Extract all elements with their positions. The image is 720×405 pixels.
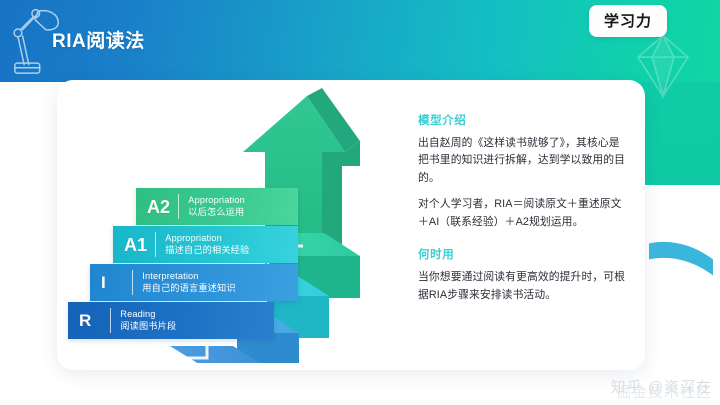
step-en-label: Appropriation — [188, 195, 245, 207]
label-divider — [132, 270, 133, 295]
step-label-a2[interactable]: A2 Appropriation 以后怎么运用 — [136, 188, 298, 225]
step-en-label: Reading — [120, 309, 176, 321]
watermark-line-1: 知乎 @资深在 — [611, 379, 712, 396]
section-paragraph-1: 出自赵周的《这样读书就够了》，其核心是把书里的知识进行拆解，达到学以致用的目的。 — [418, 135, 630, 187]
status-badge: 学习力 — [589, 5, 667, 37]
watermark: 知乎 @资深在 掘金技术社区 — [611, 376, 712, 397]
cyan-ribbon-decoration — [643, 237, 720, 285]
slide-canvas: RIA阅读法 学习力 — [0, 0, 720, 405]
step-en-label: Interpretation — [142, 271, 235, 283]
content-text-column: 模型介绍 出自赵周的《这样读书就够了》，其核心是把书里的知识进行拆解，达到学以致… — [418, 112, 630, 304]
watermark-line-2: 掘金技术社区 — [616, 381, 712, 402]
step-code: R — [79, 312, 104, 329]
step-code: A1 — [124, 236, 149, 254]
ria-staircase-diagram: A2 Appropriation 以后怎么运用 A1 Appropriation… — [60, 88, 410, 363]
section-paragraph-2: 对个人学习者，RIA＝阅读原文＋重述原文＋AI（联系经验）＋A2规划运用。 — [418, 196, 630, 231]
step-code: A2 — [147, 198, 172, 216]
label-divider — [178, 194, 179, 219]
step-cn-label: 以后怎么运用 — [188, 207, 245, 219]
label-divider — [155, 232, 156, 257]
step-cn-label: 用自己的语言重述知识 — [142, 283, 235, 295]
step-code: I — [101, 274, 126, 291]
section-paragraph-3: 当你想要通过阅读有更高效的提升时，可根据RIA步骤来安排读书活动。 — [418, 269, 630, 304]
step-en-label: Appropriation — [165, 233, 249, 245]
page-title: RIA阅读法 — [52, 26, 145, 53]
step-label-r[interactable]: R Reading 阅读图书片段 — [68, 302, 274, 339]
step-label-a1[interactable]: A1 Appropriation 描述自己的相关经验 — [113, 226, 298, 263]
section-heading-when-to-use: 何时用 — [418, 246, 630, 262]
section-heading-model-intro: 模型介绍 — [418, 112, 630, 128]
label-divider — [110, 308, 111, 333]
step-cn-label: 阅读图书片段 — [120, 321, 176, 333]
step-label-i[interactable]: I Interpretation 用自己的语言重述知识 — [90, 264, 298, 301]
step-cn-label: 描述自己的相关经验 — [165, 245, 249, 257]
